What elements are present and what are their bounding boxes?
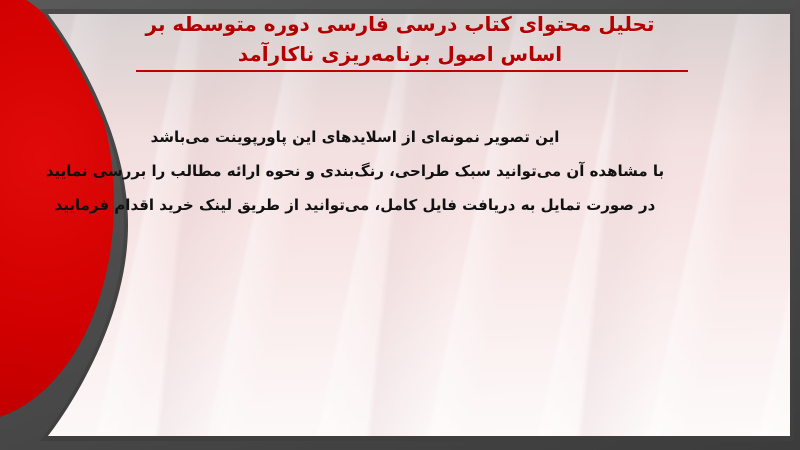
body-line-1: این تصویر نمونه‌ای از اسلایدهای این پاور… [40,120,670,154]
presentation-slide: تحلیل محتوای کتاب درسی فارسی دوره متوسطه… [0,0,800,450]
slide-body-text: این تصویر نمونه‌ای از اسلایدهای این پاور… [40,120,670,222]
slide-title-line-1: تحلیل محتوای کتاب درسی فارسی دوره متوسطه… [0,9,800,39]
body-line-2: با مشاهده آن می‌توانید سبک طراحی، رنگ‌بن… [40,154,670,188]
slide-content: تحلیل محتوای کتاب درسی فارسی دوره متوسطه… [0,0,800,450]
title-underline-rule [136,70,688,72]
slide-title-line-2: اساس اصول برنامه‌ریزی ناکارآمد [0,39,800,69]
slide-title: تحلیل محتوای کتاب درسی فارسی دوره متوسطه… [0,9,800,69]
body-line-3: در صورت تمایل به دریافت فایل کامل، می‌تو… [40,188,670,222]
